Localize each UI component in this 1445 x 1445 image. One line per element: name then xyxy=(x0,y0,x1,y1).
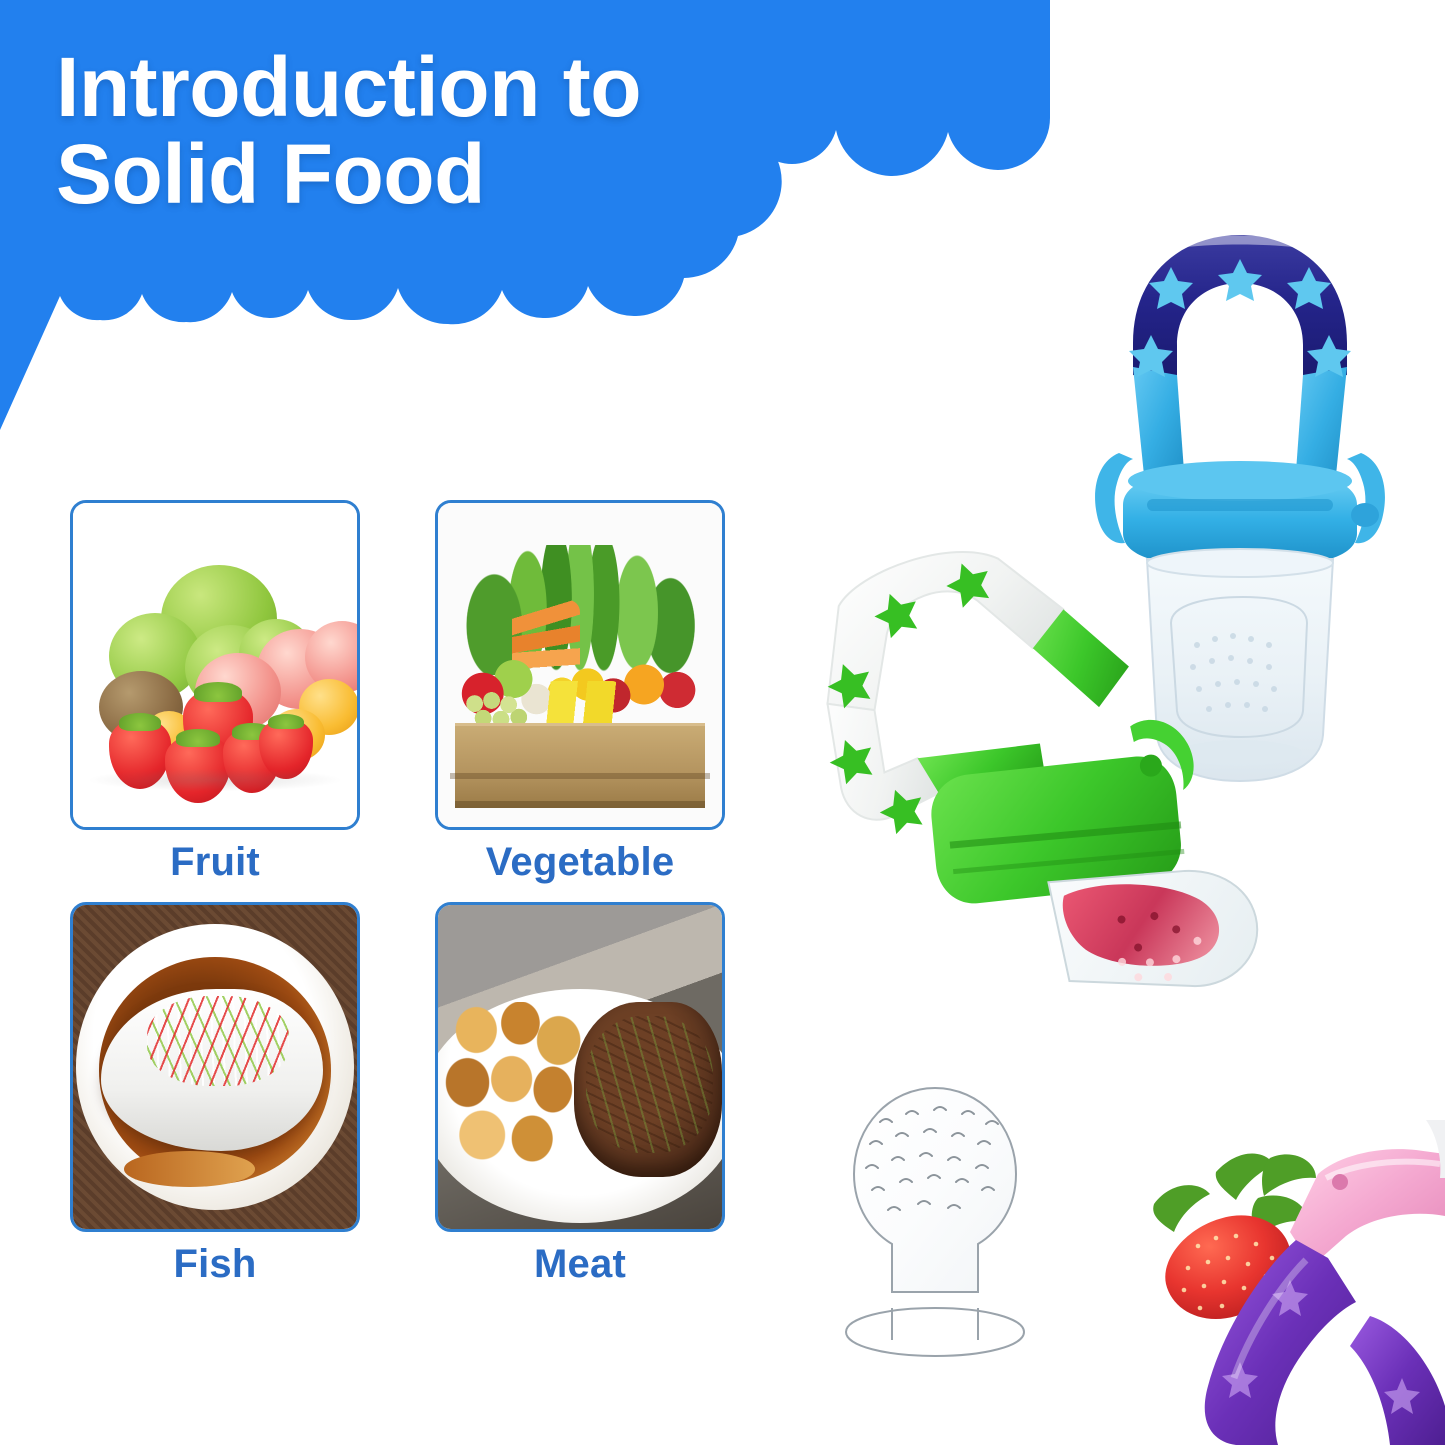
steak-and-potatoes-photo xyxy=(438,905,722,1229)
pouch-base-flange xyxy=(846,1308,1024,1356)
vegetable-crate-photo xyxy=(438,503,722,827)
feeder-arm-pink xyxy=(1290,1149,1445,1266)
food-card-vegetable[interactable]: Vegetable xyxy=(435,500,725,884)
food-card-label: Vegetable xyxy=(435,840,725,884)
page-title: Introduction to Solid Food xyxy=(56,44,816,219)
food-card-label: Fruit xyxy=(70,840,360,884)
steamed-fish-plate-photo xyxy=(73,905,357,1229)
product-image-green-feeder xyxy=(760,500,1280,1030)
food-card-label: Meat xyxy=(435,1242,725,1286)
food-card-fish[interactable]: Fish xyxy=(70,902,360,1286)
fish-photo-frame xyxy=(70,902,360,1232)
assorted-fruit-photo xyxy=(73,503,357,827)
food-card-label: Fish xyxy=(70,1242,360,1286)
fruit-photo-frame xyxy=(70,500,360,830)
food-category-grid: Fruit Vegetable xyxy=(70,500,725,1286)
feeder-handle-blue xyxy=(1129,235,1351,485)
product-infographic: Introduction to Solid Food xyxy=(0,0,1445,1445)
product-image-clear-pouch xyxy=(828,1082,1043,1372)
food-card-fruit[interactable]: Fruit xyxy=(70,500,360,884)
food-card-meat[interactable]: Meat xyxy=(435,902,725,1286)
pouch-body xyxy=(854,1088,1016,1292)
product-image-pink-feeder xyxy=(1140,1120,1445,1445)
vegetable-photo-frame xyxy=(435,500,725,830)
meat-photo-frame xyxy=(435,902,725,1232)
